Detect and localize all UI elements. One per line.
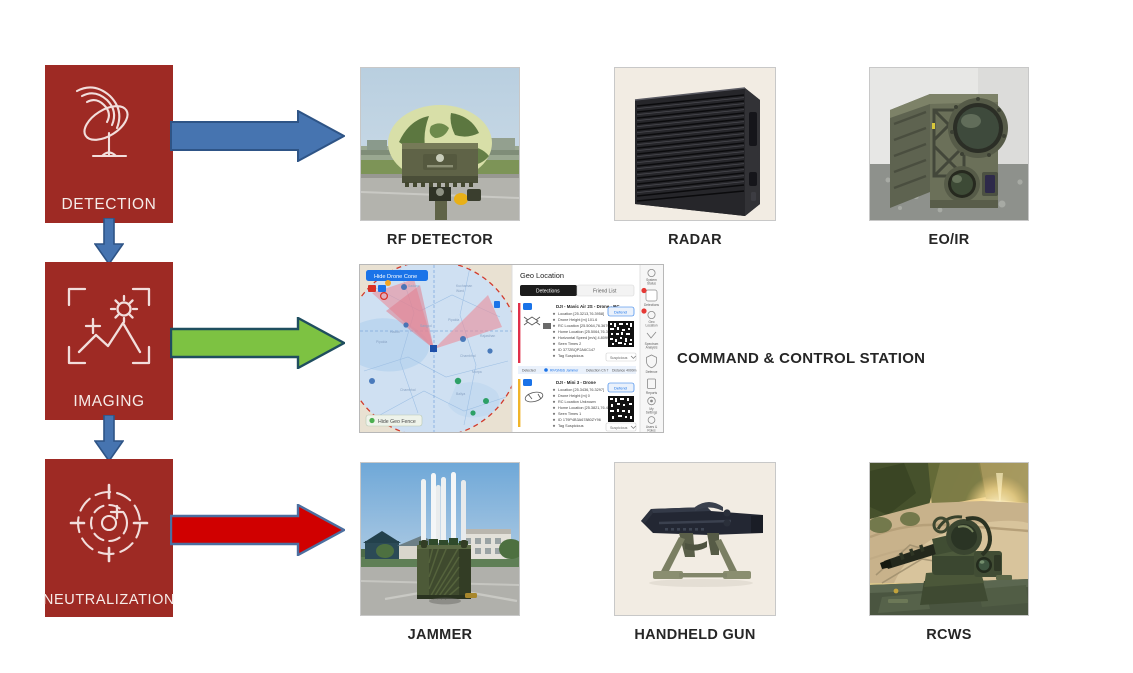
svg-text:Detections: Detections <box>644 303 659 307</box>
svg-text:Baliya: Baliya <box>456 392 465 396</box>
flow-arrow-detection <box>170 110 345 162</box>
c2-panel-title: Geo Location <box>520 271 564 280</box>
svg-text:Sadara: Sadara <box>408 284 419 288</box>
svg-text:Hadoti: Hadoti <box>390 330 400 334</box>
svg-text:Reports: Reports <box>646 391 658 395</box>
svg-text:Sangod: Sangod <box>420 324 432 328</box>
stage-label-neutralization: NEUTRALIZATION <box>43 592 175 608</box>
jammer-photo <box>360 462 520 616</box>
stage-label-imaging: IMAGING <box>73 393 144 411</box>
product-caption-rf-detector: RF DETECTOR <box>360 232 520 248</box>
svg-text:Kuchaman: Kuchaman <box>456 284 472 288</box>
svg-text:Horizontal Speed [m/s] 4.8099: Horizontal Speed [m/s] 4.8099 <box>558 336 609 340</box>
svg-text:Suspicious: Suspicious <box>610 426 628 430</box>
svg-text:Home Location [25.3821,76.4048: Home Location [25.3821,76.4048] <box>558 406 615 410</box>
detection-title-2: DJI - Mini 3 - Drone <box>556 380 596 385</box>
connector-arrow-imaging-to-neutralization <box>94 415 124 462</box>
handheld-gun-photo <box>614 462 776 616</box>
svg-text:Distance 4000m: Distance 4000m <box>612 369 637 373</box>
svg-text:Defence: Defence <box>646 370 658 374</box>
eo-ir-photo <box>869 67 1029 221</box>
svg-text:Chambhal: Chambhal <box>460 354 476 358</box>
flow-arrow-imaging <box>170 317 345 369</box>
image-capture-icon <box>45 276 173 376</box>
svg-text:Tag Suspicious: Tag Suspicious <box>558 354 584 358</box>
svg-text:Rajasthan: Rajasthan <box>480 334 495 338</box>
svg-text:Roles: Roles <box>647 428 656 432</box>
product-caption-eo-ir: EO/IR <box>869 232 1029 248</box>
svg-text:Home Location [25.5064,76.3840: Home Location [25.5064,76.3840] <box>558 330 615 334</box>
svg-text:Suspicious: Suspicious <box>610 356 628 360</box>
product-card-rf-detector[interactable]: RF DETECTOR <box>360 67 520 248</box>
svg-text:RF/GNSS Jammer: RF/GNSS Jammer <box>550 369 579 373</box>
product-card-eo-ir[interactable]: EO/IR <box>869 67 1029 248</box>
product-card-radar[interactable]: RADAR <box>614 67 776 248</box>
svg-text:Location: Location <box>645 324 657 328</box>
map-hide-drone-cone-label: Hide Drone Cone <box>374 274 417 280</box>
product-card-rcws[interactable]: RCWS <box>869 462 1029 643</box>
stage-box-neutralization[interactable]: NEUTRALIZATION <box>45 459 173 617</box>
detection-footer-1: Detected <box>522 369 536 373</box>
svg-text:Settings: Settings <box>646 411 658 415</box>
svg-text:Ward: Ward <box>456 289 464 293</box>
flow-arrow-neutralization <box>170 504 345 556</box>
satellite-dish-icon <box>45 79 173 179</box>
c2-tab-detections: Detections <box>536 289 560 295</box>
svg-text:RC Location [25.5064,76.3679]: RC Location [25.5064,76.3679] <box>558 324 611 328</box>
svg-text:Drone Height [m] 0: Drone Height [m] 0 <box>558 394 590 398</box>
detection-defend-button-1: Defend <box>614 309 627 314</box>
product-caption-command-control-station: COMMAND & CONTROL STATION <box>677 350 925 367</box>
radar-photo <box>614 67 776 221</box>
product-card-handheld-gun[interactable]: HANDHELD GUN <box>614 462 776 643</box>
c2-tab-friend-list: Friend List <box>593 289 617 295</box>
svg-text:Seen Times 2: Seen Times 2 <box>558 342 581 346</box>
svg-text:Detection Ch 7: Detection Ch 7 <box>586 369 609 373</box>
svg-text:Pipalda: Pipalda <box>448 318 459 322</box>
product-card-command-control-station[interactable]: Hide Drone Cone Hide Geo Fence KuchamanW… <box>359 264 664 433</box>
product-caption-handheld-gun: HANDHELD GUN <box>614 627 776 643</box>
connector-arrow-detection-to-imaging <box>94 218 124 265</box>
svg-text:Pipalda: Pipalda <box>376 340 387 344</box>
product-caption-rcws: RCWS <box>869 627 1029 643</box>
product-card-jammer[interactable]: JAMMER <box>360 462 520 643</box>
svg-text:Drone Height [m] 101.6: Drone Height [m] 101.6 <box>558 318 597 322</box>
svg-text:Location [25.3213,76.3958]: Location [25.3213,76.3958] <box>558 312 604 316</box>
map-hide-geo-fence-label: Hide Geo Fence <box>378 419 416 425</box>
svg-text:Morpa: Morpa <box>472 370 482 374</box>
stage-box-detection[interactable]: DETECTION <box>45 65 173 223</box>
svg-text:Tag Suspicious: Tag Suspicious <box>558 424 584 428</box>
rcws-photo <box>869 462 1029 616</box>
svg-text:ID 1T9P4B3A67880ZY96: ID 1T9P4B3A67880ZY96 <box>558 418 601 422</box>
svg-text:RC Location Unknown: RC Location Unknown <box>558 400 596 404</box>
detection-defend-button-2: Defend <box>614 385 627 390</box>
svg-text:Status: Status <box>647 282 656 286</box>
svg-text:Location [25.3436,76.3297]: Location [25.3436,76.3297] <box>558 388 604 392</box>
stage-label-detection: DETECTION <box>62 196 157 214</box>
command-control-station-screenshot: Hide Drone Cone Hide Geo Fence KuchamanW… <box>359 264 664 433</box>
product-caption-radar: RADAR <box>614 232 776 248</box>
svg-text:Seen Times 1: Seen Times 1 <box>558 412 581 416</box>
svg-text:Chambhal: Chambhal <box>400 388 416 392</box>
product-caption-jammer: JAMMER <box>360 627 520 643</box>
stage-box-imaging[interactable]: IMAGING <box>45 262 173 420</box>
crosshair-target-icon <box>45 473 173 573</box>
svg-text:ID 3772BQP2A6C147: ID 3772BQP2A6C147 <box>558 348 595 352</box>
svg-text:Analysis: Analysis <box>646 346 658 350</box>
rf-detector-photo <box>360 67 520 221</box>
